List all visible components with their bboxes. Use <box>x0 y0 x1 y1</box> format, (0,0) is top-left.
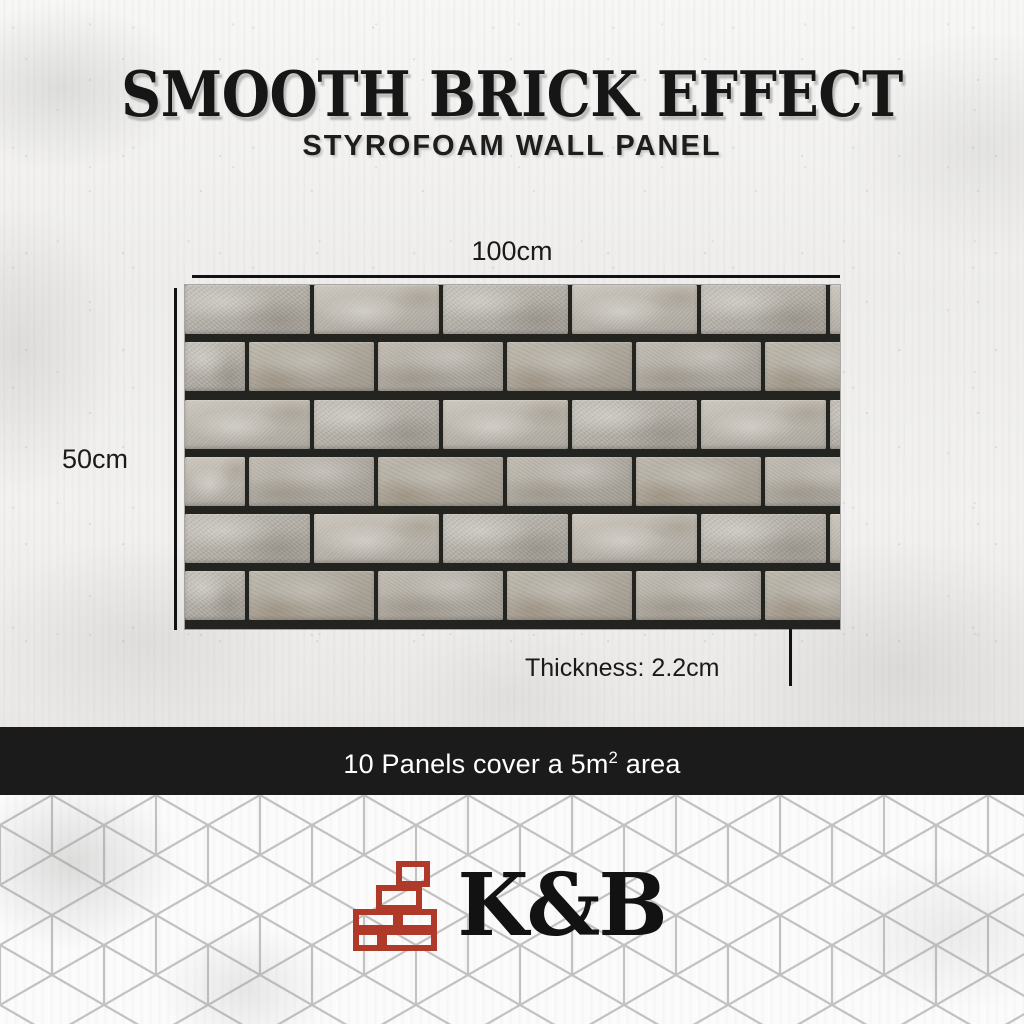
brick <box>701 400 826 449</box>
brick <box>830 285 840 334</box>
brand-logo: K&B <box>0 858 1024 953</box>
width-dimension-label: 100cm <box>0 236 1024 266</box>
dimension-line-horizontal-icon <box>192 275 840 278</box>
brick <box>378 571 503 620</box>
brick-row <box>185 342 840 399</box>
brick-row <box>185 514 840 571</box>
thickness-dimension-label: Thickness: 2.2cm <box>525 654 720 682</box>
brick <box>249 571 374 620</box>
brick-wall-icon <box>352 860 438 952</box>
brick <box>185 571 245 620</box>
brick <box>185 285 310 334</box>
product-infographic: SMOOTH BRICK EFFECT STYROFOAM WALL PANEL… <box>0 0 1024 1024</box>
brick <box>636 457 761 506</box>
brick-row <box>185 285 840 342</box>
coverage-text-before: 10 Panels cover a 5m <box>343 749 608 779</box>
coverage-superscript: 2 <box>609 748 619 767</box>
brick <box>443 400 568 449</box>
brick <box>249 342 374 391</box>
brick <box>185 457 245 506</box>
page-subtitle: STYROFOAM WALL PANEL <box>0 130 1024 162</box>
brick-row <box>185 571 840 628</box>
brick <box>765 342 840 391</box>
coverage-text-after: area <box>618 749 681 779</box>
brick <box>572 400 697 449</box>
brand-logo-text: K&B <box>458 862 666 950</box>
brick <box>443 514 568 563</box>
brick <box>314 285 439 334</box>
brick <box>701 285 826 334</box>
height-dimension-label: 50cm <box>62 444 128 474</box>
brick <box>507 457 632 506</box>
brick <box>507 342 632 391</box>
brick <box>830 400 840 449</box>
product-image-brick-panel <box>185 285 840 629</box>
brick <box>507 571 632 620</box>
brick <box>572 285 697 334</box>
brick <box>636 342 761 391</box>
brick <box>314 400 439 449</box>
brick <box>185 514 310 563</box>
dimension-line-vertical-icon <box>174 288 177 630</box>
brick <box>443 285 568 334</box>
coverage-banner-text: 10 Panels cover a 5m2 area <box>343 743 680 779</box>
brick <box>765 571 840 620</box>
brick <box>572 514 697 563</box>
brick <box>701 514 826 563</box>
brick <box>378 342 503 391</box>
brick <box>830 514 840 563</box>
brick <box>249 457 374 506</box>
brick <box>378 457 503 506</box>
brick <box>314 514 439 563</box>
brick <box>185 400 310 449</box>
brick <box>636 571 761 620</box>
page-title: SMOOTH BRICK EFFECT <box>61 62 962 126</box>
brick-row <box>185 457 840 514</box>
brick <box>185 342 245 391</box>
brick <box>765 457 840 506</box>
coverage-banner: 10 Panels cover a 5m2 area <box>0 727 1024 795</box>
brick-row <box>185 400 840 457</box>
